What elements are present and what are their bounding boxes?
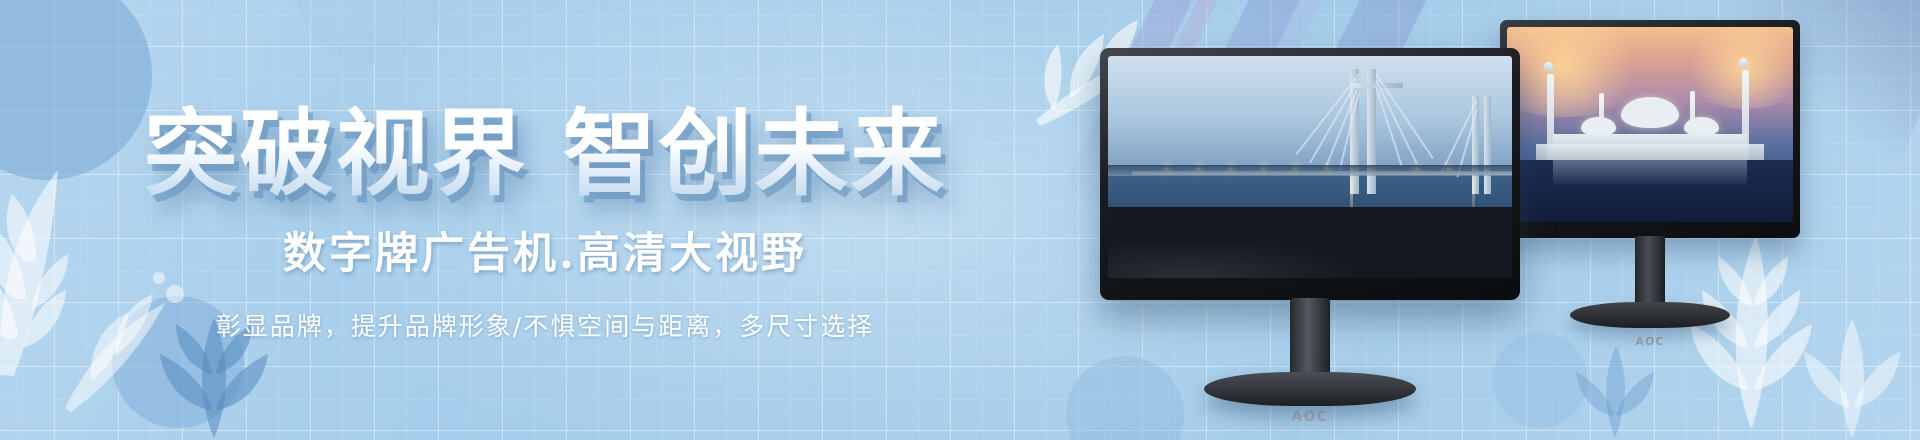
monitor-bezel-front: [1100, 48, 1520, 300]
product-monitor-back: AOC: [1500, 20, 1800, 350]
promo-banner: 突破视界 智创未来 数字牌广告机.高清大视野 彰显品牌，提升品牌形象/不惧空间与…: [0, 0, 1920, 440]
bridge-shoreline: [1108, 165, 1512, 176]
mosque-minaret-cap-2: [1739, 58, 1748, 67]
mosque-arcade: [1536, 144, 1765, 160]
monitor-screen-back: [1507, 27, 1793, 222]
bridge-foreground-rocks: [1108, 207, 1512, 278]
banner-subtitle: 数字牌广告机.高清大视野: [283, 219, 807, 281]
product-monitor-front: AOC: [1100, 48, 1520, 428]
monitor-stand-neck-back: [1635, 236, 1665, 308]
mosque-dome-left: [1581, 117, 1615, 137]
banner-tagline: 彰显品牌，提升品牌形象/不惧空间与距离，多尺寸选择: [216, 307, 874, 343]
page-title: 突破视界 智创未来: [144, 105, 947, 205]
monitor-stand-base-front: [1204, 372, 1416, 406]
monitor-bezel-back: [1500, 20, 1800, 238]
mosque-dome-main: [1621, 97, 1678, 128]
brand-logo-back: AOC: [1636, 335, 1665, 348]
mosque-minaret-cap-1: [1544, 62, 1553, 71]
leaf-branch-icon-right-3: [1788, 300, 1918, 440]
brand-logo-front: AOC: [1291, 409, 1329, 425]
mosque-dome-right: [1684, 117, 1718, 137]
monitor-stand-base-back: [1570, 302, 1730, 328]
mosque-reflection: [1553, 160, 1747, 187]
bridge-pylon-2b: [1484, 96, 1491, 194]
banner-text-block: 突破视界 智创未来 数字牌广告机.高清大视野 彰显品牌，提升品牌形象/不惧空间与…: [0, 0, 1090, 440]
monitor-screen-front: [1108, 56, 1512, 278]
